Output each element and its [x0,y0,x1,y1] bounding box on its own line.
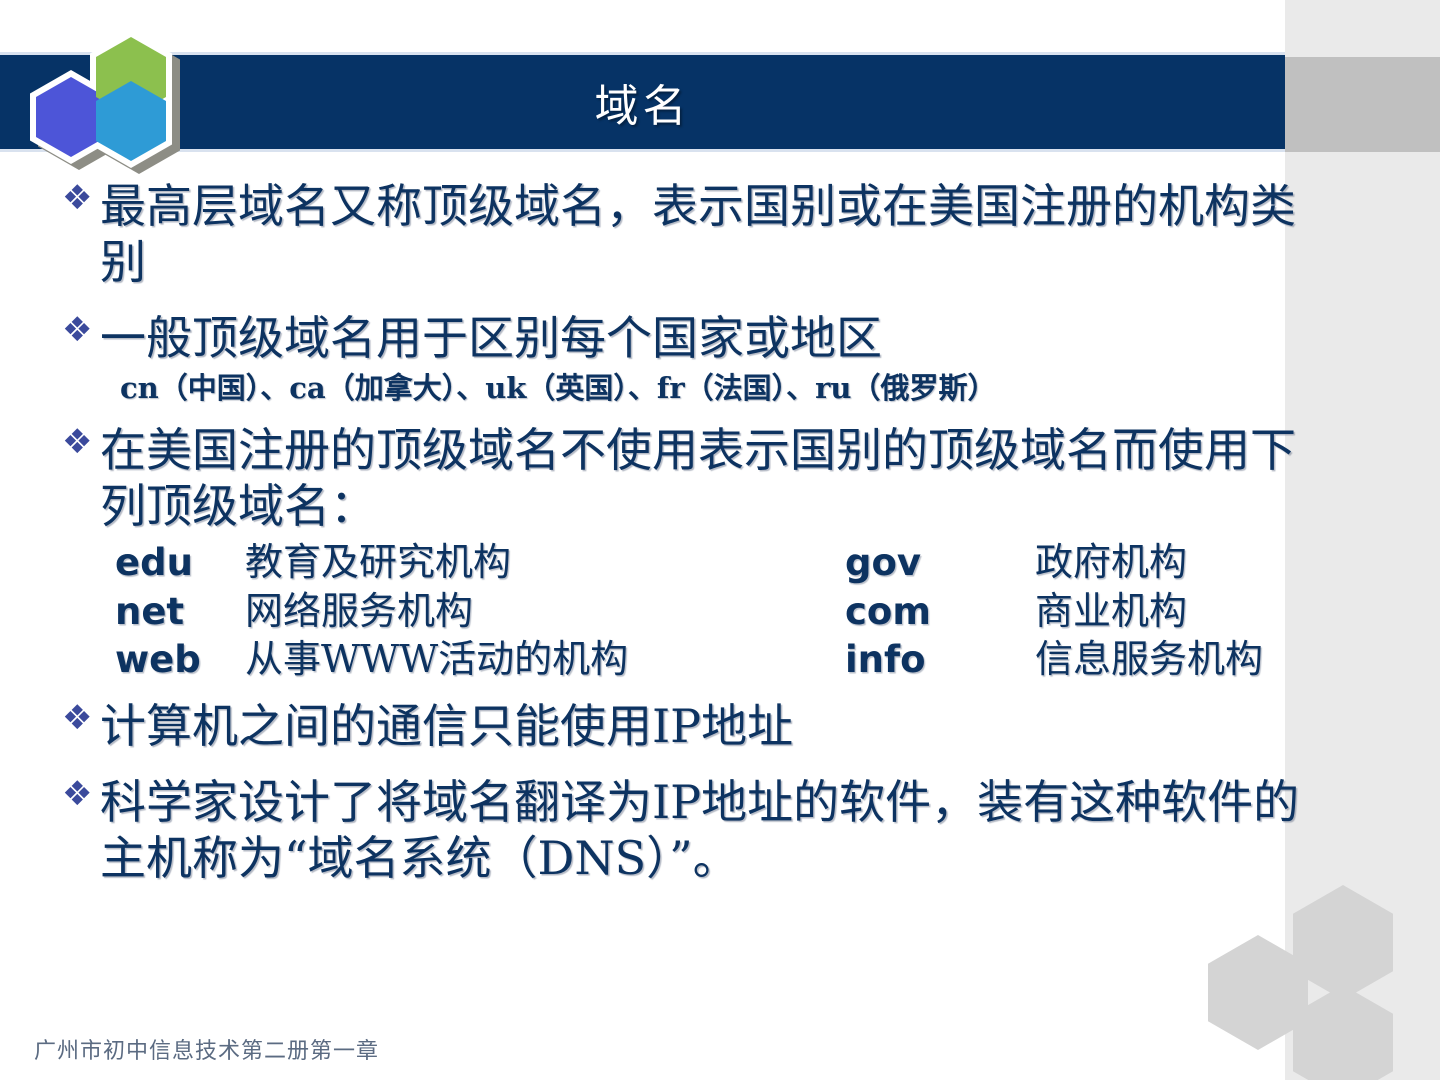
right-sidebar-accent-band [1285,57,1440,152]
table-row: edu 教育及研究机构 gov 政府机构 [115,538,1310,587]
bullet-item-4: ❖ 计算机之间的通信只能使用IP地址 [0,698,1310,754]
tld-code-web: web [115,636,245,683]
logo-hexagon-cluster [20,28,180,168]
bullet-diamond-icon: ❖ [62,310,100,351]
spacer [0,290,1310,310]
bullet-diamond-icon: ❖ [62,178,100,219]
table-row: web 从事WWW活动的机构 info 信息服务机构 [115,635,1310,684]
bullet-item-2: ❖ 一般顶级域名用于区别每个国家或地区 [0,310,1310,366]
tld-desc-com: 商业机构 [1035,587,1310,636]
bullet-text-1: 最高层域名又称顶级域名，表示国别或在美国注册的机构类别 [100,178,1300,290]
country-code-list: cn（中国）、ca（加拿大）、uk（英国）、fr（法国）、ru（俄罗斯） [0,370,1310,408]
bullet-text-3: 在美国注册的顶级域名不使用表示国别的顶级域名而使用下列顶级域名： [100,422,1300,534]
tld-desc-web: 从事WWW活动的机构 [245,635,845,684]
tld-code-edu: edu [115,539,245,586]
tld-table: edu 教育及研究机构 gov 政府机构 net 网络服务机构 com 商业机构… [0,538,1310,684]
bullet-item-1: ❖ 最高层域名又称顶级域名，表示国别或在美国注册的机构类别 [0,178,1310,290]
bullet-item-5: ❖ 科学家设计了将域名翻译为IP地址的软件，装有这种软件的主机称为“域名系统（D… [0,774,1310,886]
tld-code-net: net [115,588,245,635]
slide-title: 域名 [0,52,1285,152]
slide-canvas: 域名 ❖ 最高层域名又称顶级域名，表示国别或在美国注册的机构类别 ❖ 一般顶级域… [0,0,1440,1080]
spacer [0,754,1310,774]
slide-body: ❖ 最高层域名又称顶级域名，表示国别或在美国注册的机构类别 ❖ 一般顶级域名用于… [0,178,1310,886]
spacer [0,684,1310,698]
tld-desc-gov: 政府机构 [1035,538,1310,587]
table-row: net 网络服务机构 com 商业机构 [115,587,1310,636]
bullet-text-4: 计算机之间的通信只能使用IP地址 [100,698,1300,754]
bullet-diamond-icon: ❖ [62,774,100,815]
bullet-diamond-icon: ❖ [62,698,100,739]
tld-desc-info: 信息服务机构 [1035,635,1310,684]
bullet-diamond-icon: ❖ [62,422,100,463]
slide-footer: 广州市初中信息技术第二册第一章 [34,1033,379,1065]
tld-code-gov: gov [845,539,1035,586]
tld-code-info: info [845,636,1035,683]
tld-desc-edu: 教育及研究机构 [245,538,845,587]
tld-code-com: com [845,588,1035,635]
spacer [0,408,1310,422]
bullet-text-5: 科学家设计了将域名翻译为IP地址的软件，装有这种软件的主机称为“域名系统（DNS… [100,774,1300,886]
bullet-text-2: 一般顶级域名用于区别每个国家或地区 [100,310,1300,366]
tld-desc-net: 网络服务机构 [245,587,845,636]
bullet-item-3: ❖ 在美国注册的顶级域名不使用表示国别的顶级域名而使用下列顶级域名： [0,422,1310,534]
